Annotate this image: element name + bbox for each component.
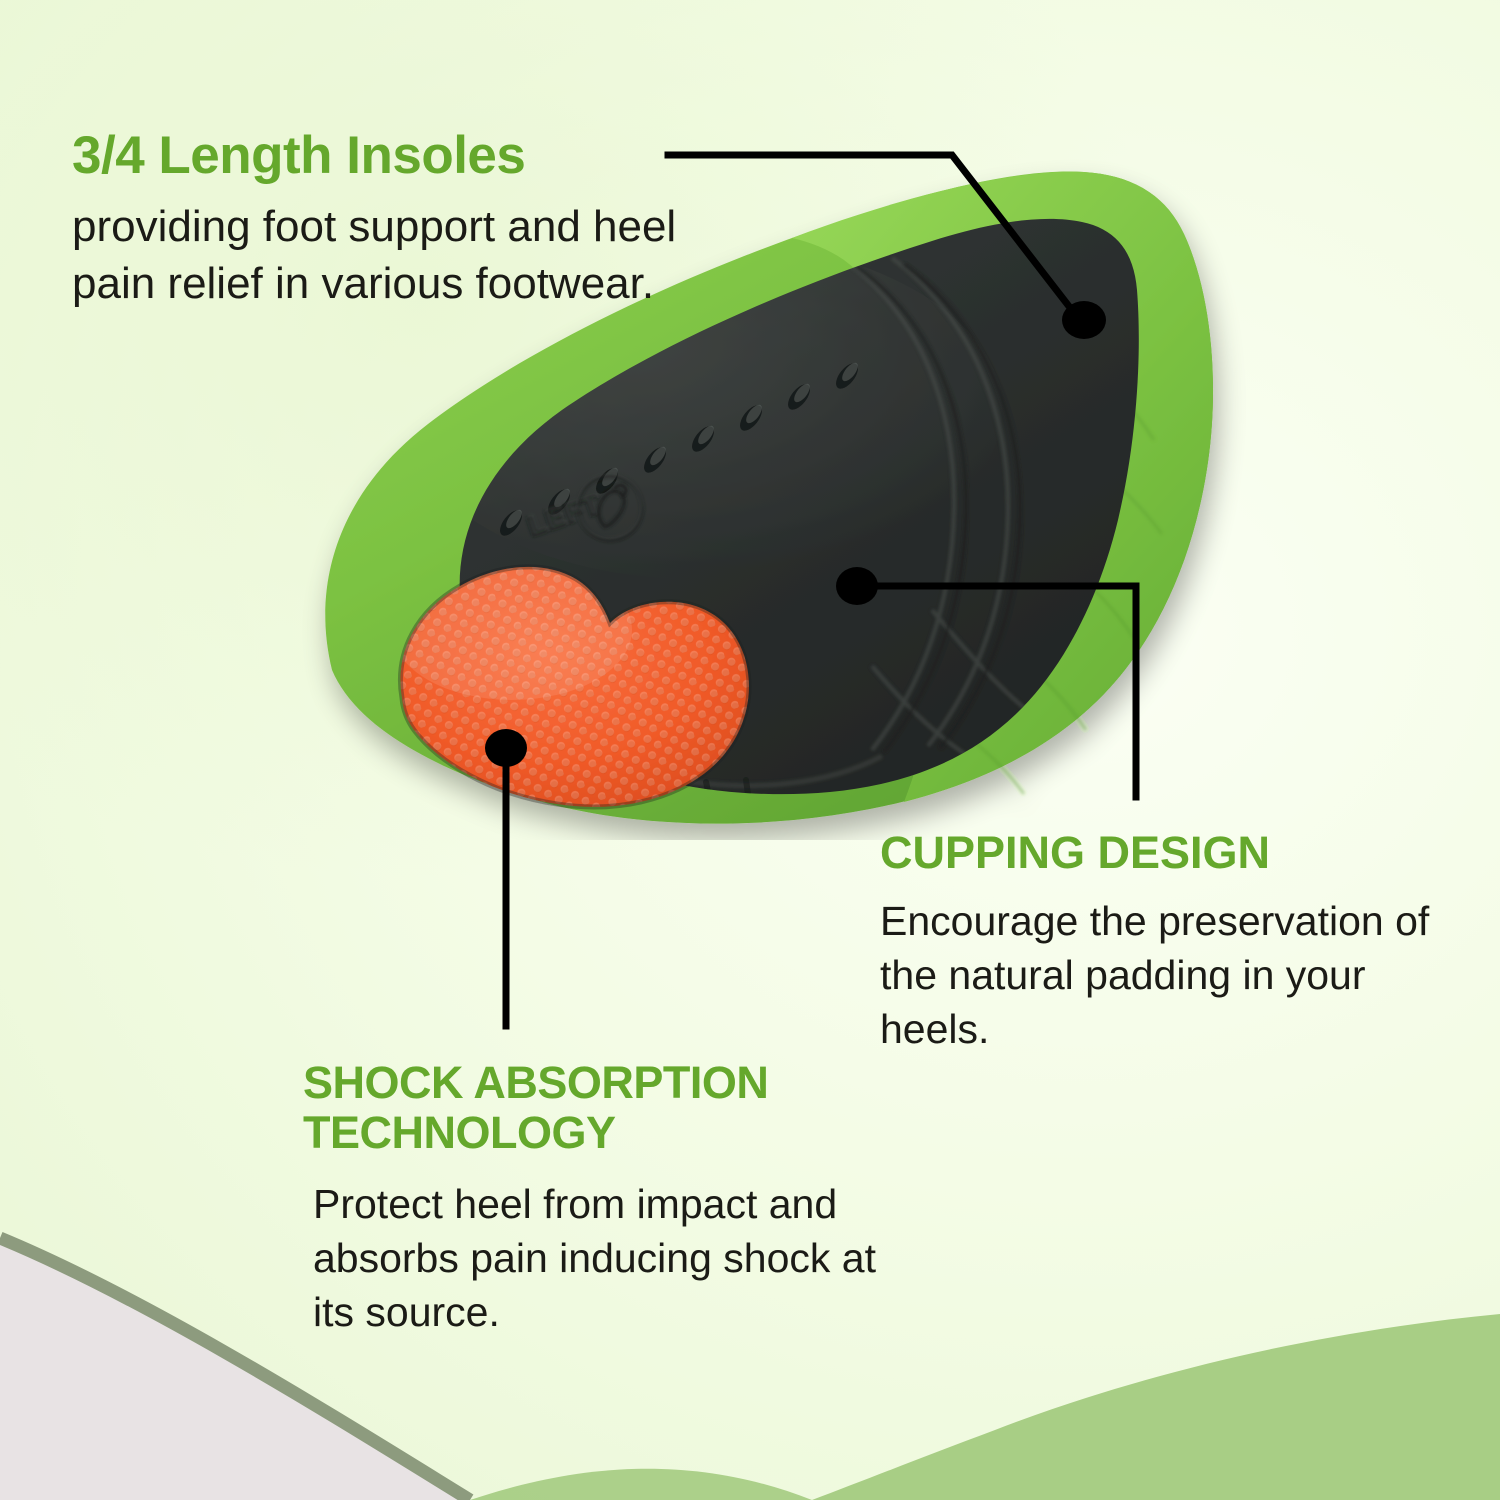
callout-insoles-body: providing foot support and heel pain rel… [72,198,692,312]
callout-insoles-title: 3/4 Length Insoles [72,128,692,184]
callout-shock-body: Protect heel from impact and absorbs pai… [303,1177,923,1339]
callout-cupping-title: CUPPING DESIGN [880,828,1460,878]
callout-shock-title: SHOCK ABSORPTION TECHNOLOGY [303,1058,923,1159]
callout-insoles: 3/4 Length Insoles providing foot suppor… [72,128,692,313]
callout-cupping-body: Encourage the preservation of the natura… [880,894,1460,1056]
corner-green-shape [812,1314,1500,1500]
infographic-page: LEFT LEFT 3/4 Length Inso [0,0,1500,1500]
callout-cupping: CUPPING DESIGN Encourage the preservatio… [880,828,1460,1056]
corner-green-sliver [470,1469,812,1500]
callout-shock: SHOCK ABSORPTION TECHNOLOGY Protect heel… [303,1058,923,1339]
